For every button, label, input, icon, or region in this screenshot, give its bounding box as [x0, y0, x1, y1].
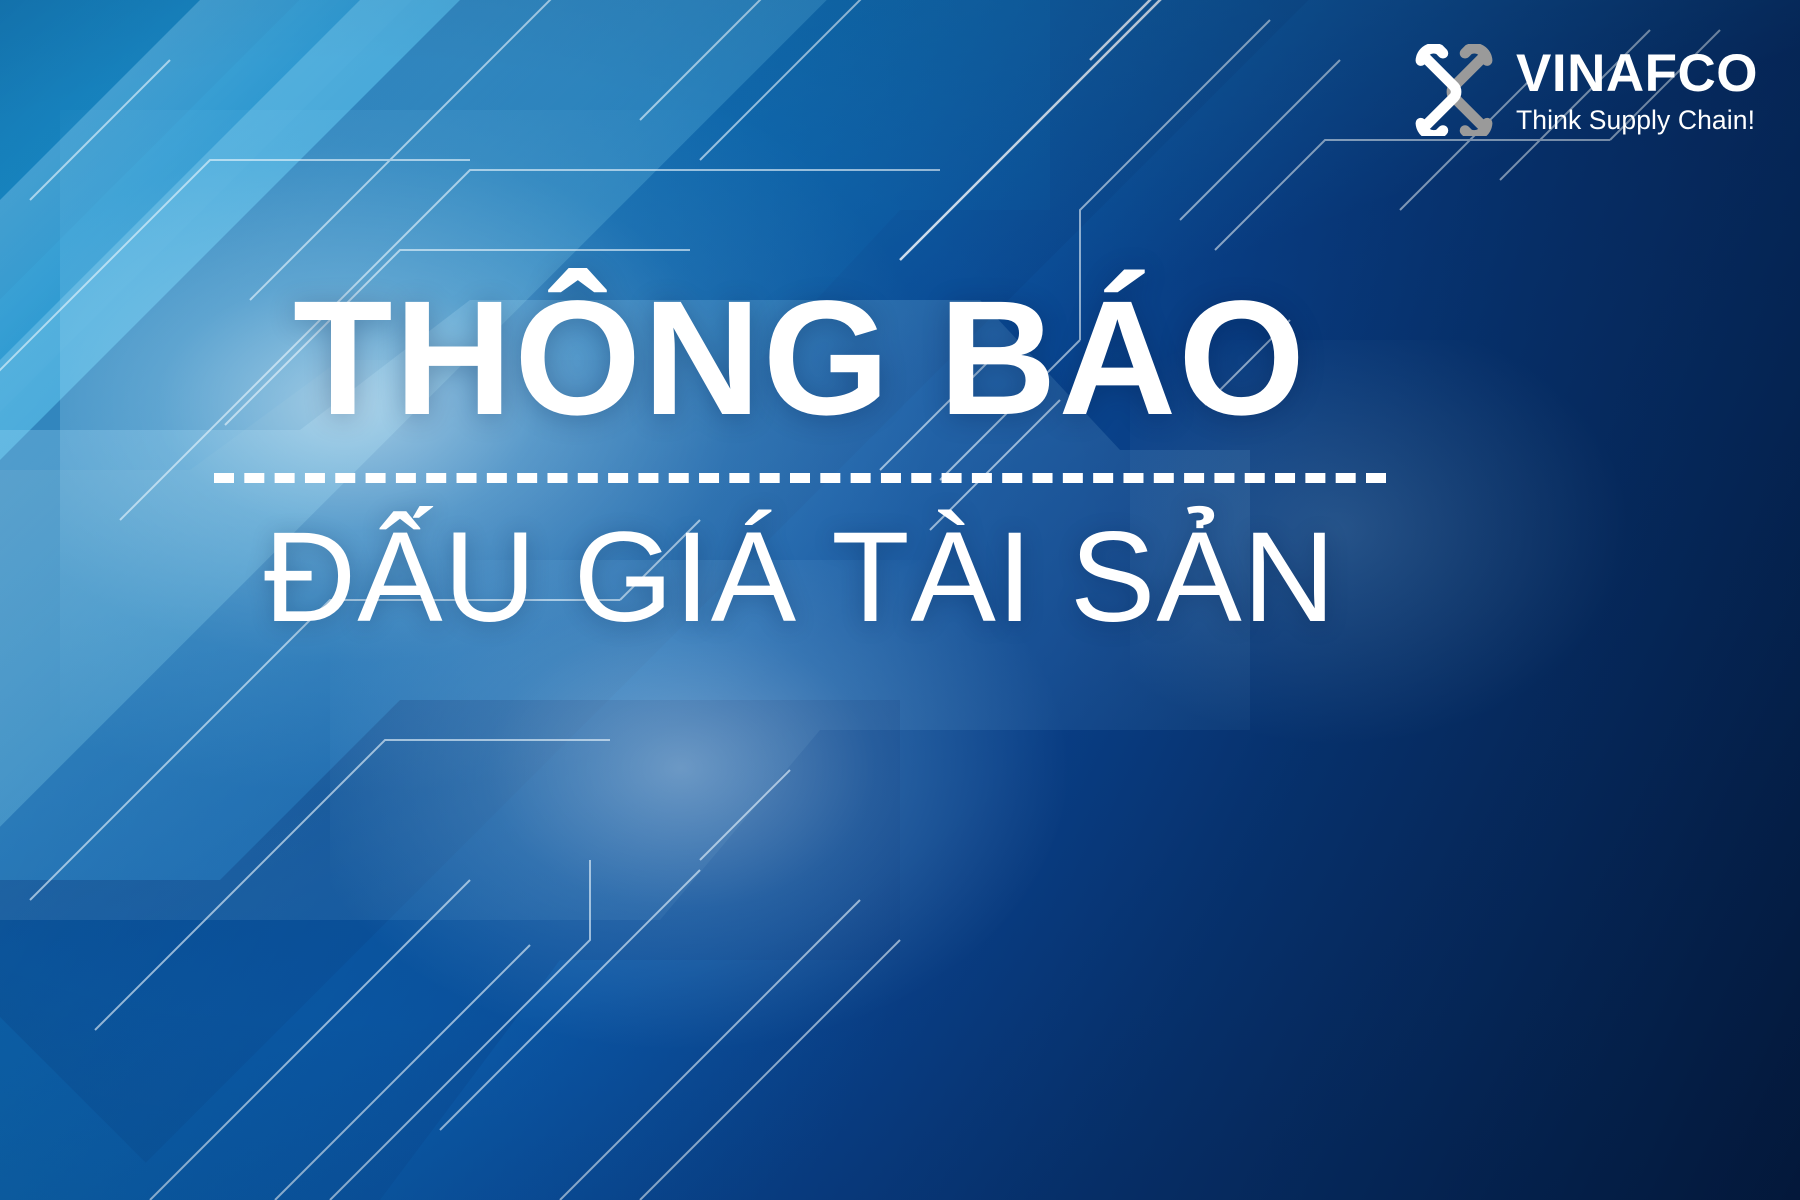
brand-tagline: Think Supply Chain!: [1516, 107, 1758, 134]
page-subtitle: ĐẤU GIÁ TÀI SẢN: [200, 511, 1400, 645]
vinafco-logo[interactable]: VINAFCO Think Supply Chain!: [1408, 44, 1758, 136]
headline-block: THÔNG BÁO ĐẤU GIÁ TÀI SẢN: [200, 276, 1400, 645]
dashed-divider: [214, 473, 1386, 483]
brand-name: VINAFCO: [1516, 47, 1758, 100]
logo-wordmark: VINAFCO Think Supply Chain!: [1516, 47, 1758, 134]
interlocking-chain-links-icon: [1408, 44, 1500, 136]
page-title: THÔNG BÁO: [200, 276, 1400, 439]
poster-canvas: VINAFCO Think Supply Chain! THÔNG BÁO ĐẤ…: [0, 0, 1800, 1200]
